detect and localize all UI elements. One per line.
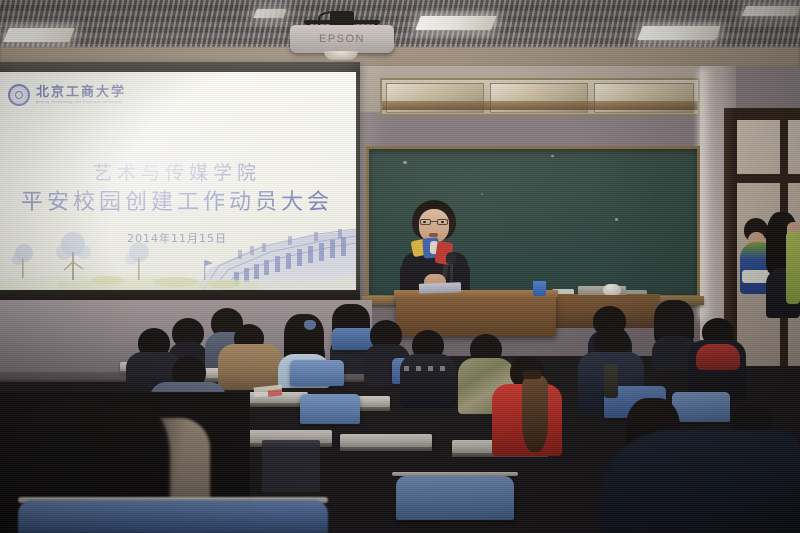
seat-frame <box>262 440 320 492</box>
projector-body: EPSON <box>290 25 394 53</box>
presenter-eye-right <box>441 221 444 223</box>
transom-window <box>380 78 700 116</box>
doorway-transom-bar <box>736 174 800 183</box>
seat-back <box>300 394 360 424</box>
projection-screen: 北京工商大学 Beijing Technology and Business U… <box>0 72 356 290</box>
blue-cup <box>533 281 546 296</box>
tablet-desk <box>340 434 432 447</box>
chalk-speck <box>403 161 407 164</box>
seat-rail <box>392 472 518 476</box>
fur-coat <box>218 344 282 390</box>
ceiling-light-panel-2 <box>253 9 287 18</box>
chalk-speck <box>615 218 618 221</box>
thermos-bottle <box>604 364 618 398</box>
student-red-coat <box>492 356 562 452</box>
slide-title-line-1: 艺术与传媒学院 <box>0 158 356 185</box>
slide-artwork <box>0 228 356 290</box>
presenter-mouth <box>429 233 438 237</box>
classroom-photo: EPSON 北京工商大学 Beijing <box>0 0 800 533</box>
campus-illustration-icon <box>0 228 356 290</box>
microphone-icon <box>446 252 456 264</box>
projector-brand-label: EPSON <box>290 33 394 45</box>
ceiling-light-panel-3 <box>415 16 497 30</box>
blonde-ponytail <box>522 374 548 452</box>
projector-lens <box>324 51 358 60</box>
ceiling-light-panel-4 <box>637 26 721 40</box>
seat-back <box>396 476 514 520</box>
foreground-seat-back <box>18 500 328 533</box>
doorway-person-green-sleeve <box>786 232 800 304</box>
projector-icon: EPSON <box>290 11 394 56</box>
student-red-hood <box>688 318 746 396</box>
student-tan-fur <box>218 324 282 386</box>
podium-papers <box>419 282 461 293</box>
slide-logo: 北京工商大学 Beijing Technology and Business U… <box>8 84 126 106</box>
student-black-puffer <box>400 330 456 402</box>
university-seal-icon <box>8 84 30 106</box>
hair-tie <box>304 320 316 330</box>
transom-sill <box>382 101 698 110</box>
projection-screen-top-roller <box>0 62 360 72</box>
torso <box>400 354 456 408</box>
podium-white-object <box>603 284 621 295</box>
university-name-en: Beijing Technology and Business Universi… <box>36 101 126 104</box>
ceiling-light-panel-1 <box>3 28 75 42</box>
presenter-eye-left <box>423 221 426 223</box>
foreground-student-right <box>600 430 800 533</box>
slide-title-line-2: 平安校园创建工作动员大会 <box>0 184 356 216</box>
chalk-speck <box>551 155 554 157</box>
university-name-cn: 北京工商大学 <box>36 86 126 99</box>
seat-back <box>290 360 344 386</box>
red-hood <box>696 344 740 370</box>
chalk-speck <box>481 193 483 195</box>
ceiling-light-panel-5 <box>742 6 800 16</box>
hair-tie <box>522 370 542 379</box>
right-wall-light-glow <box>698 70 712 320</box>
collar-trim <box>404 366 452 371</box>
